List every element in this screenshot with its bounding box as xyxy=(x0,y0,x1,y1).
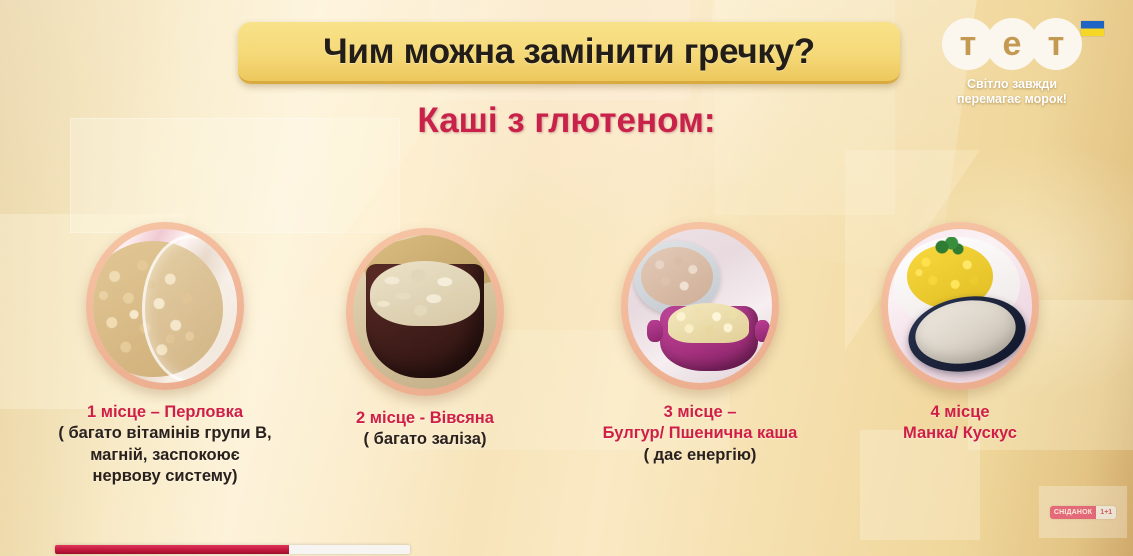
item-note-line: ( багато заліза) xyxy=(275,429,575,450)
ukraine-flag-icon xyxy=(1081,21,1104,36)
item-caption: 4 місце Манка/ Кускус xyxy=(810,402,1110,445)
item-rank: Манка/ Кускус xyxy=(810,423,1110,444)
logo-marks: т е т xyxy=(938,18,1098,70)
food-photo-pearl-barley xyxy=(86,222,244,390)
channel-slogan: Світло завжди перемагає морок! xyxy=(938,77,1086,108)
title-banner: Чим можна замінити гречку? xyxy=(238,22,900,84)
oat-flakes xyxy=(370,261,479,326)
bulgur-image xyxy=(628,229,772,383)
progress-bar-fill xyxy=(55,545,289,554)
page-title: Чим можна замінити гречку? xyxy=(323,32,815,72)
list-item: 3 місце – Булгур/ Пшенична каша ( дає ен… xyxy=(550,222,850,466)
couscous-image xyxy=(888,229,1032,383)
item-rank: 3 місце – xyxy=(550,402,850,423)
oat-flakes-image xyxy=(353,235,497,389)
item-note-line: магній, заспокоює xyxy=(15,445,315,466)
food-photo-oats xyxy=(346,228,504,396)
tv-broadcast-frame: Чим можна замінити гречку? Каші з глютен… xyxy=(0,0,1133,556)
list-item: 4 місце Манка/ Кускус xyxy=(810,222,1110,445)
item-rank: 2 місце - Вівсяна xyxy=(275,408,575,429)
watermark-right-text: 1+1 xyxy=(1096,506,1116,519)
item-note-line: нервову систему) xyxy=(15,466,315,487)
item-caption: 2 місце - Вівсяна ( багато заліза) xyxy=(275,408,575,451)
list-item: 1 місце – Перловка ( багато вітамінів гр… xyxy=(15,222,315,488)
progress-bar[interactable] xyxy=(55,545,410,554)
bulgur-grain xyxy=(668,303,749,343)
food-photo-bulgur xyxy=(621,222,779,390)
pearl-barley-image xyxy=(93,229,237,383)
watermark-badge: СНІДАНОК 1+1 xyxy=(1050,506,1116,519)
logo-letter-3-icon: т xyxy=(1030,18,1082,70)
parsley-garnish xyxy=(934,237,966,257)
wheat-porridge xyxy=(641,247,713,306)
food-photo-couscous xyxy=(881,222,1039,390)
item-rank: 4 місце xyxy=(810,402,1110,423)
watermark-left-text: СНІДАНОК xyxy=(1050,506,1096,519)
item-rank: Булгур/ Пшенична каша xyxy=(550,423,850,444)
item-caption: 3 місце – Булгур/ Пшенична каша ( дає ен… xyxy=(550,402,850,466)
item-rank: 1 місце – Перловка xyxy=(15,402,315,423)
channel-logo: т е т Світло завжди перемагає морок! xyxy=(938,18,1098,108)
list-item: 2 місце - Вівсяна ( багато заліза) xyxy=(275,228,575,451)
corner-watermark: СНІДАНОК 1+1 xyxy=(1039,486,1127,538)
item-caption: 1 місце – Перловка ( багато вітамінів гр… xyxy=(15,402,315,488)
item-note-line: ( дає енергію) xyxy=(550,445,850,466)
background-rect-g xyxy=(860,430,980,540)
item-note-line: ( багато вітамінів групи В, xyxy=(15,423,315,444)
